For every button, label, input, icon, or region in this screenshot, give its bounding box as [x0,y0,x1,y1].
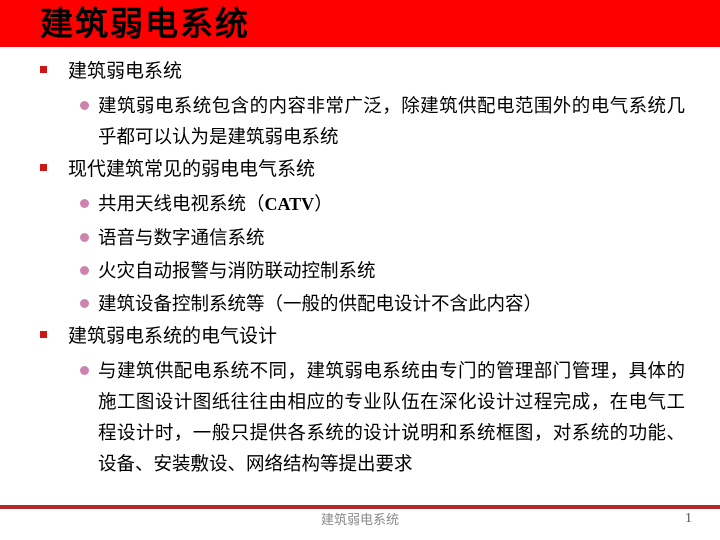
circle-bullet-icon [80,233,89,242]
bullet-text: 共用天线电视系统（CATV） [98,188,720,220]
bullet-text: 与建筑供配电系统不同，建筑弱电系统由专门的管理部门管理，具体的施工图设计图纸往往… [98,355,720,479]
bullet-text: 建筑设备控制系统等（一般的供配电设计不含此内容） [98,288,720,319]
circle-bullet-icon [80,101,89,110]
title-banner: 建筑弱电系统 [0,0,720,47]
square-bullet-icon [40,331,47,338]
content-body: 建筑弱电系统 建筑弱电系统包含的内容非常广泛，除建筑供配电范围外的电气系统几乎都… [0,56,720,501]
bullet-text-lead: 共用天线电视系统（ [98,193,265,214]
bullet-level1: 建筑弱电系统的电气设计 [0,321,720,352]
square-bullet-icon [40,66,47,73]
footer-divider [0,505,720,509]
bullet-level2: 共用天线电视系统（CATV） [0,188,720,220]
bullet-level1: 建筑弱电系统 [0,56,720,87]
bullet-text-acronym: CATV [265,194,315,214]
bullet-text: 现代建筑常见的弱电电气系统 [68,154,720,185]
bullet-level2: 建筑设备控制系统等（一般的供配电设计不含此内容） [0,288,720,319]
page-number: 1 [685,509,692,529]
bullet-level2: 火灾自动报警与消防联动控制系统 [0,255,720,286]
bullet-level2: 语音与数字通信系统 [0,222,720,253]
bullet-level2: 建筑弱电系统包含的内容非常广泛，除建筑供配电范围外的电气系统几乎都可以认为是建筑… [0,90,720,152]
page-title: 建筑弱电系统 [40,2,250,46]
circle-bullet-icon [80,199,89,208]
bullet-text-tail: ） [314,193,333,214]
bullet-text: 语音与数字通信系统 [98,222,720,253]
bullet-text: 建筑弱电系统包含的内容非常广泛，除建筑供配电范围外的电气系统几乎都可以认为是建筑… [98,90,720,152]
bullet-level2: 与建筑供配电系统不同，建筑弱电系统由专门的管理部门管理，具体的施工图设计图纸往往… [0,355,720,479]
circle-bullet-icon [80,266,89,275]
bullet-level1: 现代建筑常见的弱电电气系统 [0,154,720,185]
circle-bullet-icon [80,366,89,375]
bullet-text: 建筑弱电系统的电气设计 [68,321,720,352]
footer-title: 建筑弱电系统 [0,510,720,530]
square-bullet-icon [40,164,47,171]
circle-bullet-icon [80,299,89,308]
slide: 建筑弱电系统 建筑弱电系统 建筑弱电系统包含的内容非常广泛，除建筑供配电范围外的… [0,0,720,540]
bullet-text: 建筑弱电系统 [68,56,720,87]
bullet-text: 火灾自动报警与消防联动控制系统 [98,255,720,286]
